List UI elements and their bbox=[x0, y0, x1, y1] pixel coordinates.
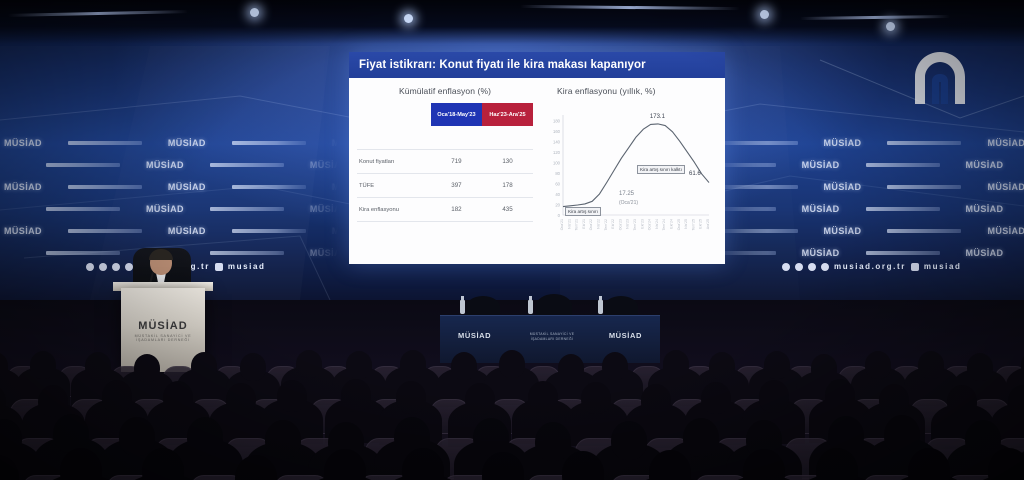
backdrop-logo-mark: MÜSİAD bbox=[824, 226, 862, 236]
backdrop-logo-mark: MÜSİAD bbox=[802, 204, 840, 214]
backdrop-logo-bar bbox=[68, 229, 142, 233]
slide-title-bar: Fiyat istikrarı: Konut fiyatı ile kira m… bbox=[349, 52, 725, 78]
row-label: TÜFE bbox=[357, 174, 431, 198]
head-table-center-text: MÜSTAKİL SANAYİCİ VE İŞADAMLARI DERNEĞİ bbox=[518, 332, 586, 342]
row-value: 130 bbox=[482, 150, 533, 174]
audience-head bbox=[759, 380, 789, 412]
podium-sublogo: MÜSTAKİL SANAYİCİ VE İŞADAMLARI DERNEĞİ bbox=[121, 334, 205, 342]
instagram-icon bbox=[112, 263, 120, 271]
row-value: 397 bbox=[431, 174, 482, 198]
svg-text:100: 100 bbox=[553, 160, 561, 165]
svg-text:Nis'22: Nis'22 bbox=[597, 219, 601, 229]
svg-text:Oca'22: Oca'22 bbox=[589, 219, 593, 230]
svg-text:120: 120 bbox=[553, 150, 561, 155]
backdrop-logo-bar bbox=[46, 163, 120, 167]
svg-text:Tem'21: Tem'21 bbox=[575, 219, 579, 230]
svg-text:Nis'21: Nis'21 bbox=[567, 219, 571, 229]
backdrop-logo-mark: MÜSİAD bbox=[824, 138, 862, 148]
aa-watermark-icon bbox=[908, 48, 972, 108]
svg-text:140: 140 bbox=[553, 139, 561, 144]
backdrop-logo-mark: MÜSİAD bbox=[987, 182, 1024, 192]
svg-text:Oca'23: Oca'23 bbox=[618, 219, 622, 230]
svg-text:Oca'21: Oca'21 bbox=[560, 219, 564, 230]
chart-end-label: 61.6 bbox=[689, 171, 701, 177]
svg-text:Oca'25: Oca'25 bbox=[677, 219, 681, 230]
backdrop-logo-mark: MÜSİAD bbox=[802, 248, 840, 258]
audience-head bbox=[811, 354, 837, 382]
backdrop-logo-mark: MÜSİAD bbox=[310, 204, 348, 214]
instagram-icon bbox=[808, 263, 816, 271]
table-col-header-2: Haz'23-Ara'25 bbox=[482, 103, 533, 126]
backdrop-logo-mark: MÜSİAD bbox=[168, 182, 206, 192]
backdrop-logo-mark: MÜSİAD bbox=[802, 160, 840, 170]
svg-text:20: 20 bbox=[555, 202, 560, 207]
backdrop-logo-bar bbox=[232, 229, 306, 233]
backdrop-logo-mark: MÜSİAD bbox=[987, 138, 1024, 148]
backdrop-logo-mark: MÜSİAD bbox=[4, 182, 42, 192]
audience-head bbox=[947, 385, 977, 417]
table-row: Kira enflasyonu 182 435 bbox=[357, 198, 533, 222]
rent-inflation-panel: Kira enflasyonu (yıllık, %) 020406080100… bbox=[539, 78, 725, 264]
svg-text:40: 40 bbox=[555, 192, 560, 197]
audience-head bbox=[663, 350, 689, 378]
svg-text:Oca'24: Oca'24 bbox=[648, 219, 652, 230]
audience-head bbox=[277, 380, 307, 412]
social-handle-label: musiad bbox=[924, 262, 962, 271]
svg-text:0: 0 bbox=[558, 213, 561, 218]
ceiling bbox=[0, 0, 1024, 44]
ceiling-spotlight bbox=[404, 14, 413, 23]
audience-head bbox=[85, 352, 111, 380]
backdrop-logo-bar bbox=[724, 141, 798, 145]
audience-head bbox=[346, 351, 372, 379]
chart-annotation-value: 17.25 bbox=[619, 191, 634, 197]
head-table-logo-right: MÜSİAD bbox=[609, 331, 642, 340]
row-value: 435 bbox=[482, 198, 533, 222]
twitter-icon bbox=[795, 263, 803, 271]
backdrop-logo-bar bbox=[866, 207, 940, 211]
audience-head bbox=[879, 384, 909, 416]
backdrop-logo-bar bbox=[866, 251, 940, 255]
svg-text:Tem'24: Tem'24 bbox=[662, 219, 666, 230]
audience-head bbox=[581, 382, 611, 414]
audience-head bbox=[30, 351, 56, 379]
backdrop-logo-bar bbox=[724, 185, 798, 189]
facebook-icon bbox=[86, 263, 94, 271]
backdrop-logo-bar bbox=[210, 251, 284, 255]
podium-logo: MÜSİAD bbox=[121, 320, 205, 332]
audience-head bbox=[119, 417, 155, 456]
audience-head bbox=[265, 420, 301, 459]
svg-text:Eki'22: Eki'22 bbox=[611, 219, 615, 229]
audience-head bbox=[465, 383, 495, 415]
svg-text:60: 60 bbox=[555, 181, 560, 186]
ceiling-spotlight bbox=[250, 8, 259, 17]
youtube-icon bbox=[125, 263, 133, 271]
svg-text:Eki'25: Eki'25 bbox=[699, 219, 703, 229]
audience-head bbox=[764, 351, 790, 379]
backdrop-logo-bar bbox=[724, 229, 798, 233]
audience-head bbox=[641, 384, 671, 416]
table-header-row: Oca'18-May'23 Haz'23-Ara'25 bbox=[357, 103, 533, 126]
social-strip-right: musiad.org.tr musiad bbox=[782, 262, 962, 271]
left-panel-heading: Kümülatif enflasyon (%) bbox=[357, 86, 533, 96]
backdrop-logo-bar bbox=[46, 207, 120, 211]
row-label: Konut fiyatları bbox=[357, 150, 431, 174]
chart-peak-label: 173.1 bbox=[650, 114, 665, 120]
backdrop-logo-bar bbox=[68, 185, 142, 189]
audience-head bbox=[558, 354, 584, 382]
twitter-icon bbox=[99, 263, 107, 271]
chart-callout-1: Kira artış sınırı bbox=[565, 207, 601, 216]
audience-head bbox=[134, 354, 160, 382]
ceiling-spotlight bbox=[886, 22, 895, 31]
svg-text:Eki'24: Eki'24 bbox=[670, 219, 674, 229]
backdrop-logo-mark: MÜSİAD bbox=[168, 226, 206, 236]
audience-head bbox=[163, 381, 193, 413]
audience-head bbox=[473, 418, 509, 457]
audience-head bbox=[341, 379, 371, 411]
chart-annotation-subvalue: (Oca'21) bbox=[619, 200, 638, 206]
backdrop-logo-mark: MÜSİAD bbox=[987, 226, 1024, 236]
backdrop-logo-mark: MÜSİAD bbox=[310, 160, 348, 170]
backdrop-logo-mark: MÜSİAD bbox=[310, 248, 348, 258]
head-table-logo-left: MÜSİAD bbox=[458, 331, 491, 340]
at-icon bbox=[215, 263, 223, 271]
social-handle-label: musiad bbox=[228, 262, 266, 271]
youtube-icon bbox=[821, 263, 829, 271]
audience-head bbox=[865, 351, 891, 379]
backdrop-logo-bar bbox=[887, 229, 961, 233]
rent-inflation-chart: 020406080100120140160180Oca'21Nis'21Tem'… bbox=[541, 103, 719, 253]
audience-head bbox=[226, 383, 256, 415]
social-site-label: musiad.org.tr bbox=[834, 262, 906, 271]
audience-head bbox=[611, 421, 647, 460]
svg-text:Nis'24: Nis'24 bbox=[655, 219, 659, 229]
audience-head bbox=[535, 422, 571, 461]
backdrop-logo-bar bbox=[232, 141, 306, 145]
backdrop-logo-bar bbox=[46, 251, 120, 255]
svg-text:Eki'23: Eki'23 bbox=[640, 219, 644, 229]
audience-head bbox=[602, 352, 628, 380]
backdrop-logo-mark: MÜSİAD bbox=[966, 248, 1004, 258]
water-bottle bbox=[598, 300, 603, 314]
svg-text:Nis'25: Nis'25 bbox=[684, 219, 688, 229]
presentation-slide: Fiyat istikrarı: Konut fiyatı ile kira m… bbox=[349, 52, 725, 264]
table-row: Konut fiyatları 719 130 bbox=[357, 150, 533, 174]
audience-head bbox=[918, 351, 944, 379]
backdrop-logo-mark: MÜSİAD bbox=[168, 138, 206, 148]
facebook-icon bbox=[782, 263, 790, 271]
table-col-header-1: Oca'18-May'23 bbox=[431, 103, 482, 126]
audience-head bbox=[988, 448, 1024, 480]
svg-text:Tem'23: Tem'23 bbox=[633, 219, 637, 230]
audience-head bbox=[191, 352, 217, 380]
audience-head bbox=[400, 350, 426, 378]
audience-head bbox=[38, 385, 68, 417]
row-label: Kira enflasyonu bbox=[357, 198, 431, 222]
backdrop-logo-mark: MÜSİAD bbox=[966, 160, 1004, 170]
audience-head bbox=[499, 350, 525, 378]
audience-head bbox=[296, 350, 322, 378]
row-value: 182 bbox=[431, 198, 482, 222]
backdrop-logo-mark: MÜSİAD bbox=[4, 226, 42, 236]
audience-head bbox=[240, 353, 266, 381]
backdrop-logo-bar bbox=[68, 141, 142, 145]
audience-head bbox=[451, 352, 477, 380]
slide-body: Kümülatif enflasyon (%) Oca'18-May'23 Ha… bbox=[349, 78, 725, 264]
svg-text:Ara'25: Ara'25 bbox=[706, 219, 710, 229]
row-value: 719 bbox=[431, 150, 482, 174]
svg-text:80: 80 bbox=[555, 171, 560, 176]
row-value: 178 bbox=[482, 174, 533, 198]
audience-head bbox=[528, 381, 558, 413]
cumulative-inflation-table: Oca'18-May'23 Haz'23-Ara'25 Konut fiyatl… bbox=[357, 103, 533, 222]
water-bottle bbox=[528, 300, 533, 314]
audience-head bbox=[701, 382, 731, 414]
backdrop-logo-bar bbox=[887, 185, 961, 189]
svg-text:Tem'25: Tem'25 bbox=[691, 219, 695, 230]
backdrop-logo-bar bbox=[232, 185, 306, 189]
svg-text:Tem'22: Tem'22 bbox=[604, 219, 608, 230]
table-row: TÜFE 397 178 bbox=[357, 174, 533, 198]
audience-head bbox=[102, 380, 132, 412]
backdrop-logo-bar bbox=[210, 163, 284, 167]
svg-text:160: 160 bbox=[553, 129, 561, 134]
audience-head bbox=[884, 415, 920, 454]
at-icon bbox=[911, 263, 919, 271]
right-panel-heading: Kira enflasyonu (yıllık, %) bbox=[541, 86, 719, 96]
svg-text:180: 180 bbox=[553, 118, 561, 123]
svg-text:Nis'23: Nis'23 bbox=[626, 219, 630, 229]
audience-head bbox=[187, 417, 223, 456]
backdrop-logo-mark: MÜSİAD bbox=[146, 204, 184, 214]
water-bottle bbox=[460, 300, 465, 314]
backdrop-logo-bar bbox=[866, 163, 940, 167]
audience-head bbox=[683, 418, 719, 457]
audience-head bbox=[825, 379, 855, 411]
backdrop-logo-mark: MÜSİAD bbox=[824, 182, 862, 192]
audience-head bbox=[709, 352, 735, 380]
backdrop-logo-bar bbox=[210, 207, 284, 211]
audience-head bbox=[967, 353, 993, 381]
svg-text:Eki'21: Eki'21 bbox=[582, 219, 586, 229]
audience-head bbox=[396, 381, 426, 413]
cumulative-inflation-panel: Kümülatif enflasyon (%) Oca'18-May'23 Ha… bbox=[349, 78, 539, 264]
chart-callout-2: Kira artış sınırı kalktı bbox=[637, 165, 685, 174]
slide-title: Fiyat istikrarı: Konut fiyatı ile kira m… bbox=[359, 59, 646, 71]
table-corner-cell bbox=[357, 103, 431, 126]
ceiling-spotlight bbox=[760, 10, 769, 19]
backdrop-logo-bar bbox=[887, 141, 961, 145]
backdrop-logo-mark: MÜSİAD bbox=[4, 138, 42, 148]
backdrop-logo-mark: MÜSİAD bbox=[966, 204, 1004, 214]
backdrop-logo-mark: MÜSİAD bbox=[146, 160, 184, 170]
broadcast-frame: MÜSİADMÜSİADMÜSİADMÜSİADMÜSİADMÜSİADMÜSİ… bbox=[0, 0, 1024, 480]
